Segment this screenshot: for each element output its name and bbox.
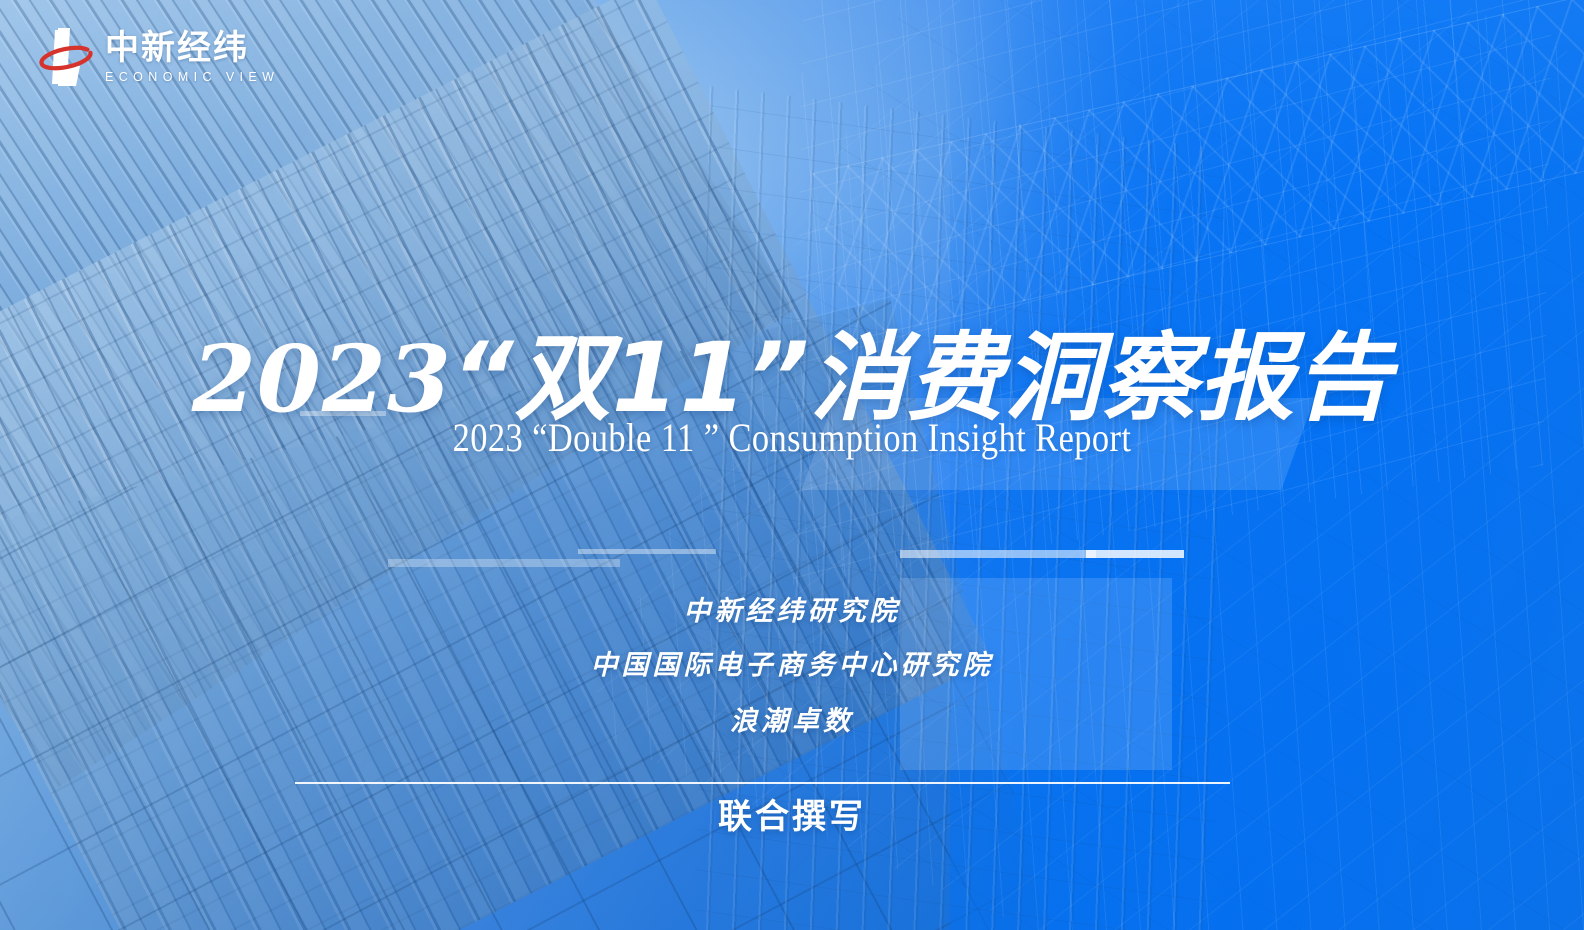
brand-logo[interactable]: 中新经纬 ECONOMIC VIEW: [38, 22, 279, 92]
brand-logo-text: 中新经纬 ECONOMIC VIEW: [105, 31, 279, 84]
decorative-stripe-5: [1086, 550, 1184, 558]
decorative-stripe-2: [578, 549, 716, 554]
brand-name-en: ECONOMIC VIEW: [105, 71, 279, 84]
decorative-stripe-3: [388, 559, 620, 567]
author-organization: 浪潮卓数: [0, 708, 1584, 735]
byline-divider-rule: [295, 782, 1230, 784]
byline-label: 联合撰写: [0, 789, 1584, 838]
brand-name-cn: 中新经纬: [105, 31, 249, 65]
brand-swoosh-icon: [38, 22, 96, 92]
author-organization: 中国国际电子商务中心研究院: [0, 652, 1584, 679]
author-organization: 中新经纬研究院: [0, 598, 1584, 625]
decorative-stripe-4: [900, 550, 1096, 558]
author-list: 中新经纬研究院 中国国际电子商务中心研究院 浪潮卓数: [0, 598, 1584, 735]
cover-slide: 中新经纬 ECONOMIC VIEW 2023“双11”消费洞察报告 2023 …: [0, 0, 1584, 930]
page-subtitle: 2023 “Double 11 ” Consumption Insight Re…: [111, 414, 1473, 461]
